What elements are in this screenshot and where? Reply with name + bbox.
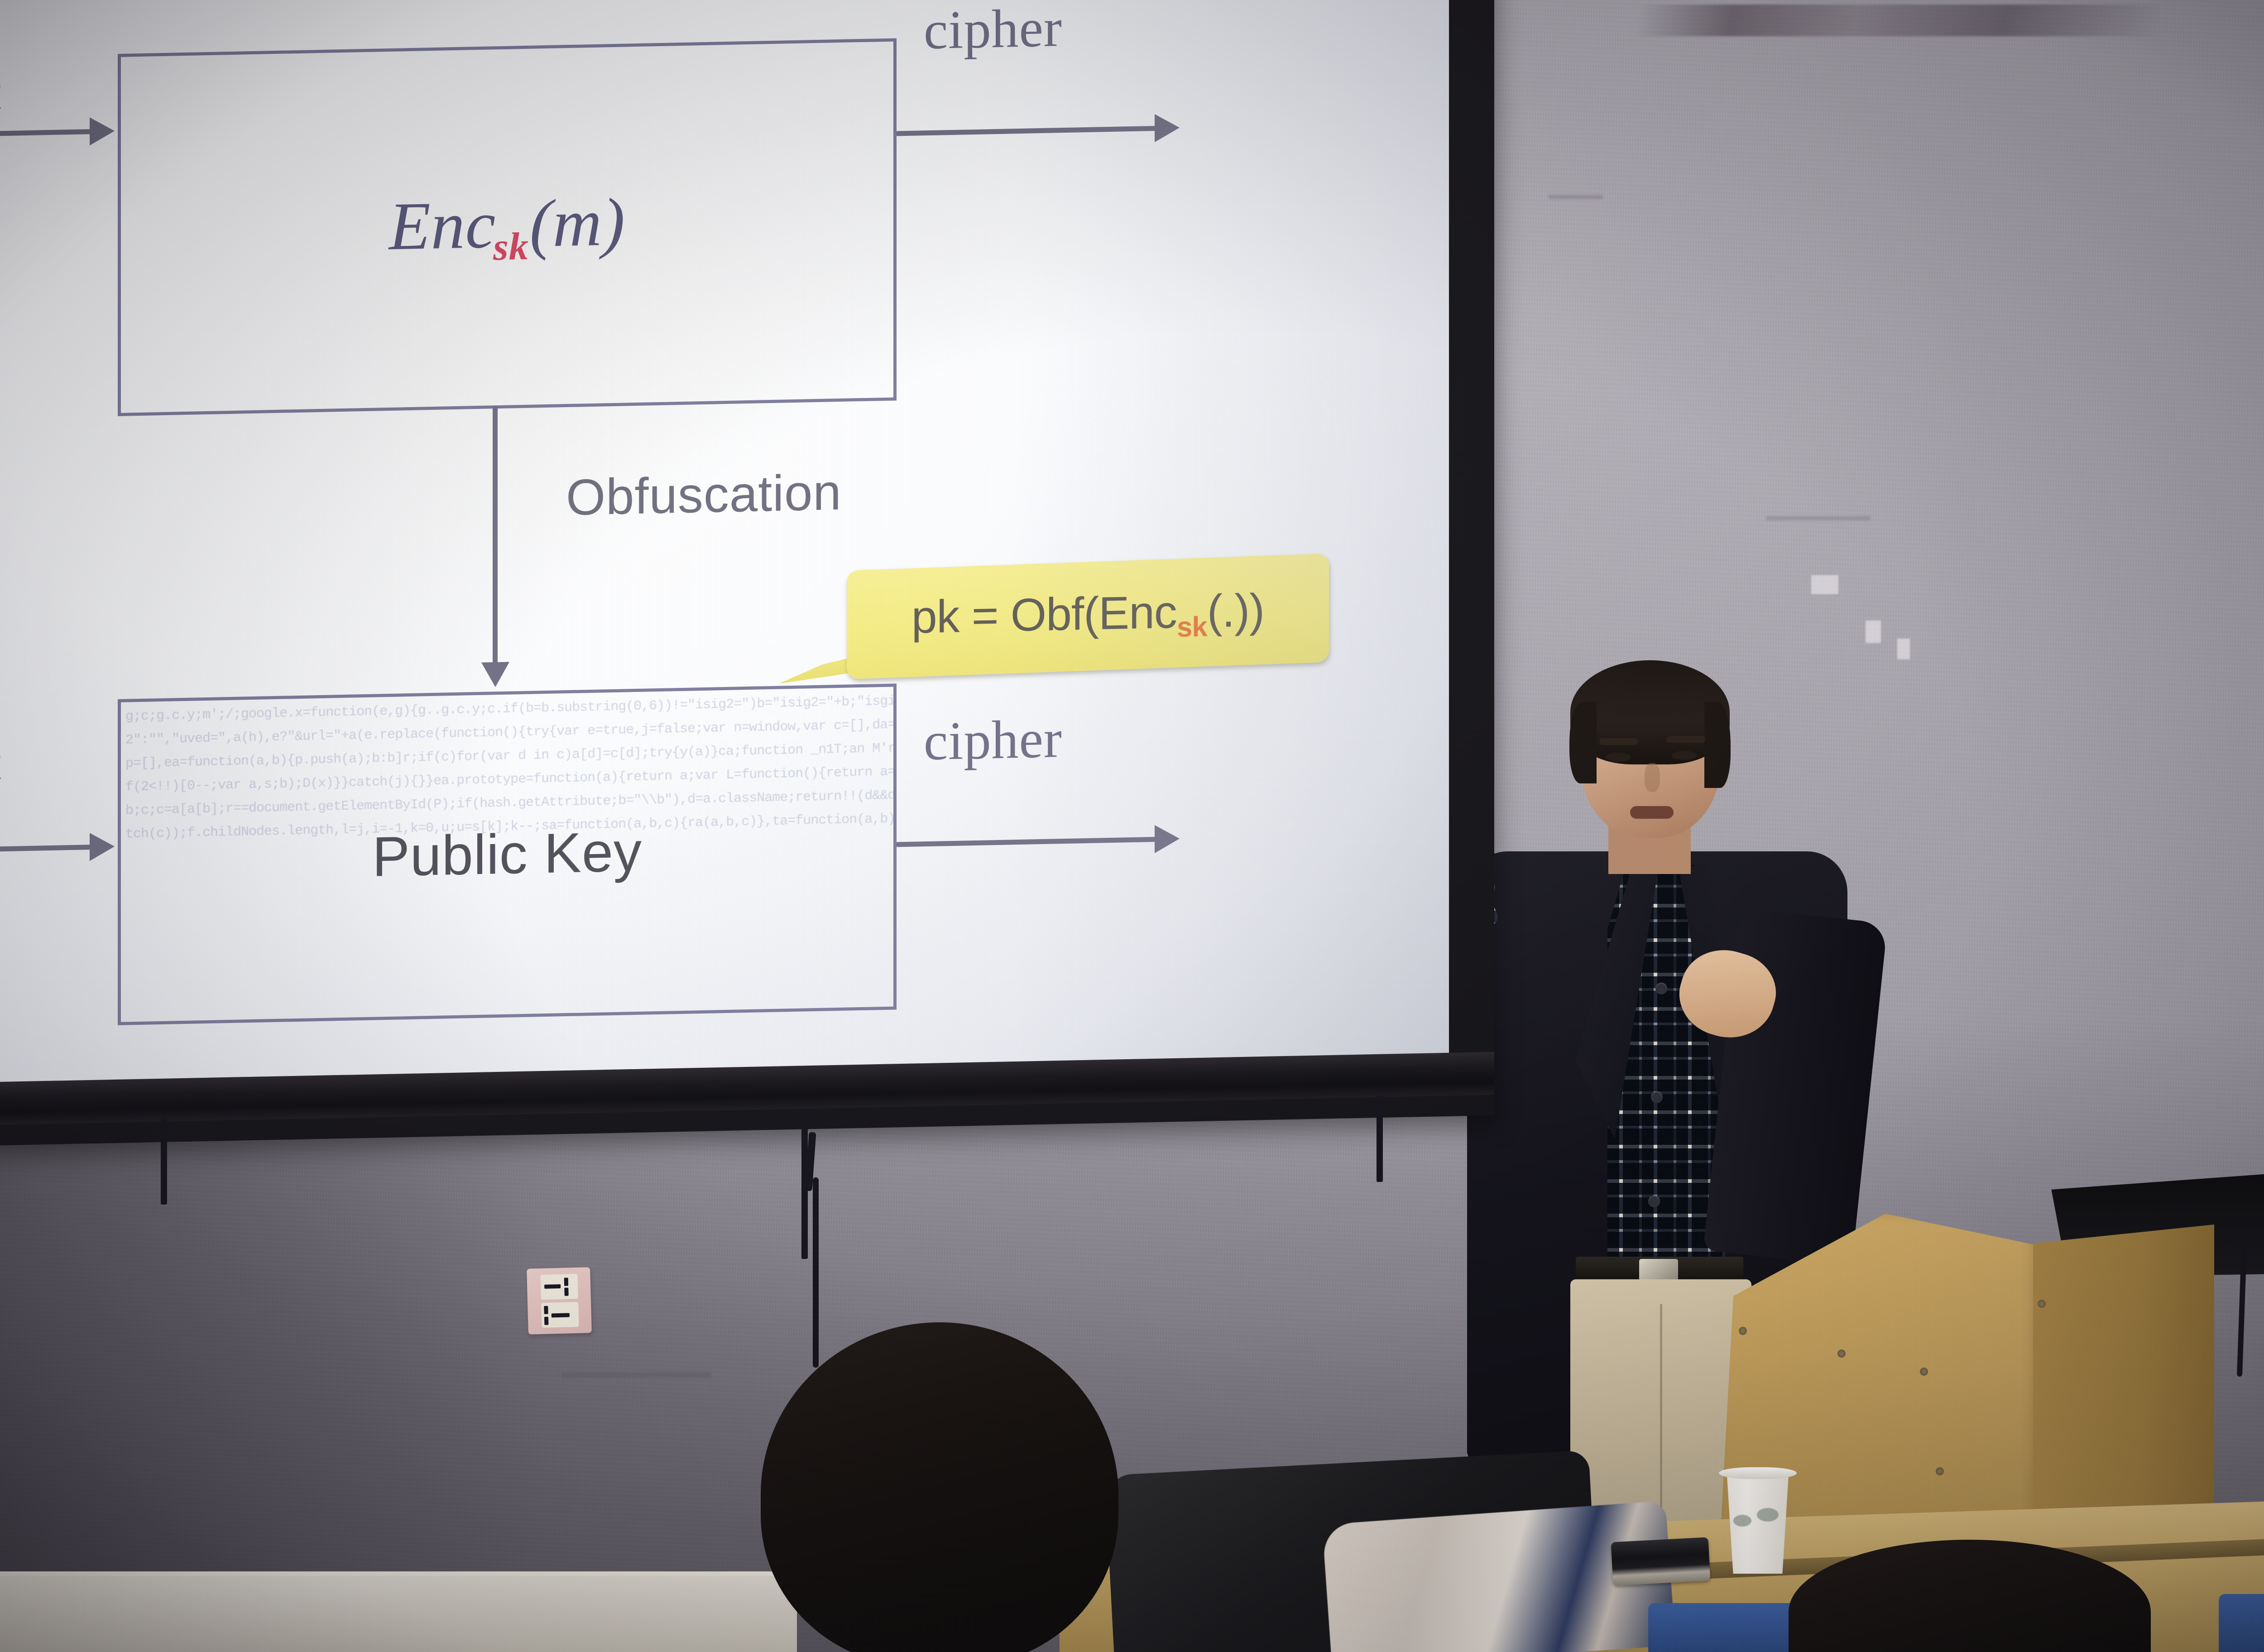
cup-decoration — [1733, 1515, 1751, 1527]
cipher-label-top: cipher — [924, 0, 1062, 62]
callout-formula: pk = Obf(Encsk(.)) — [847, 582, 1329, 650]
obfuscation-label: Obfuscation — [566, 463, 842, 527]
slide-content: m m Encsk(m) cipher Obfuscation — [0, 0, 1449, 1114]
wall-patch — [1811, 575, 1838, 594]
outlet-socket-lower — [541, 1302, 579, 1328]
public-key-box: g;c;g.c.y;m';/;google.x=function(e,g){g.… — [118, 683, 897, 1025]
screen-surface: m m Encsk(m) cipher Obfuscation — [0, 0, 1449, 1114]
presenter-mouth — [1630, 806, 1674, 819]
encryption-formula: Encsk(m) — [121, 178, 893, 277]
output-arrow-bottom-line — [897, 837, 1159, 847]
output-arrow-top-line — [897, 126, 1159, 136]
projection-screen: m m Encsk(m) cipher Obfuscation — [0, 0, 1494, 1173]
foreground-desk — [0, 1576, 797, 1652]
output-arrow-top-head — [1155, 114, 1180, 142]
screen-strap[interactable] — [161, 1119, 167, 1205]
input-arrow-bottom-head — [90, 832, 115, 861]
input-label-bottom: m — [0, 724, 3, 794]
cipher-label-bottom: cipher — [924, 707, 1062, 773]
audience-head — [761, 1322, 1118, 1652]
wall-scuff — [1549, 195, 1603, 199]
obfuscation-arrow-line — [493, 406, 498, 664]
input-arrow-top-head — [90, 117, 115, 145]
paper-cup-rim — [1719, 1467, 1797, 1479]
wall-scuff — [1766, 516, 1870, 520]
outlet-socket-upper — [540, 1274, 578, 1300]
wall-power-outlet[interactable] — [527, 1267, 592, 1335]
wall-patch — [1866, 620, 1881, 643]
hanging-cable — [813, 1177, 819, 1368]
lectern-side-panel — [2033, 1225, 2214, 1537]
obfuscation-arrow-head — [481, 662, 509, 687]
blue-chair — [2219, 1594, 2264, 1652]
smartphone[interactable] — [1611, 1537, 1711, 1585]
screen-strap[interactable] — [1377, 1096, 1383, 1182]
encryption-box: Encsk(m) — [118, 38, 897, 416]
belt-buckle — [1639, 1259, 1678, 1281]
wall-patch — [1897, 639, 1910, 659]
input-arrow-bottom-line — [0, 845, 91, 852]
cup-decoration — [1757, 1508, 1779, 1522]
paper-cup[interactable] — [1722, 1470, 1794, 1574]
input-label-top: m — [0, 54, 3, 124]
public-key-callout: pk = Obf(Encsk(.)) — [847, 553, 1329, 679]
lecture-photo: m m Encsk(m) cipher Obfuscation — [0, 0, 2264, 1652]
input-arrow-top-line — [0, 129, 91, 137]
output-arrow-bottom-head — [1155, 825, 1180, 853]
ceiling-crack — [1639, 5, 2160, 36]
